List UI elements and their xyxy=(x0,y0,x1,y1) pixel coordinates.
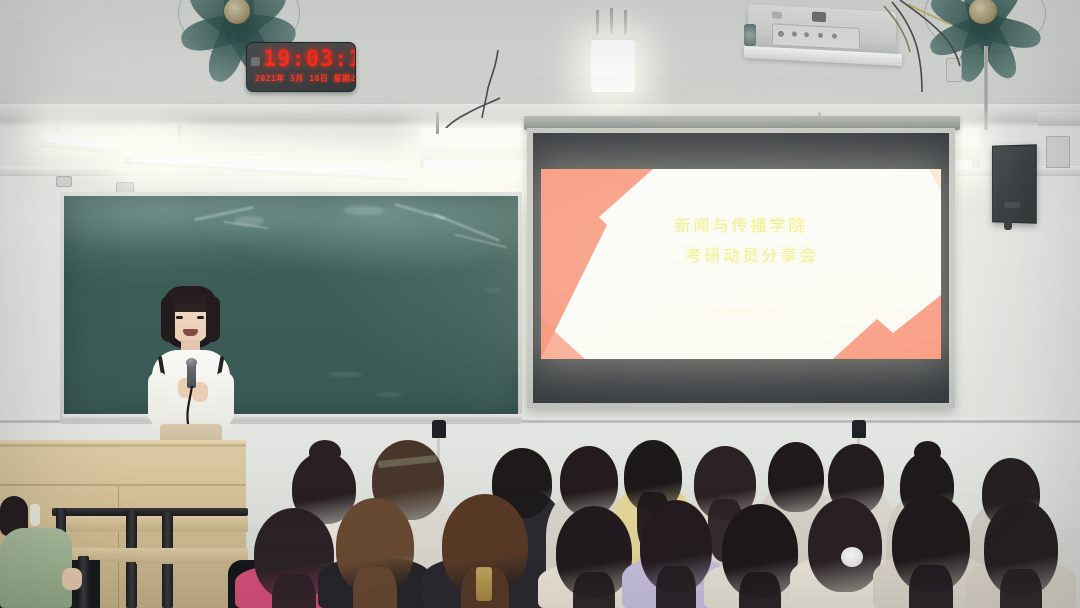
audience-ponytail xyxy=(1000,569,1041,608)
audience-front-row xyxy=(0,0,1080,608)
audience-ponytail xyxy=(573,572,616,608)
audience-ponytail xyxy=(656,566,696,608)
audience-person-head xyxy=(808,498,882,592)
classroom-photo: 19:03:17 2021年 5月 18日 星期2 xyxy=(0,0,1080,608)
audience-ponytail xyxy=(272,574,317,608)
audience-ponytail xyxy=(353,567,397,608)
audience-hair-clip xyxy=(476,567,492,601)
audience-scrunchie xyxy=(841,547,863,567)
audience-ponytail xyxy=(739,572,782,608)
audience-ponytail xyxy=(909,565,953,608)
